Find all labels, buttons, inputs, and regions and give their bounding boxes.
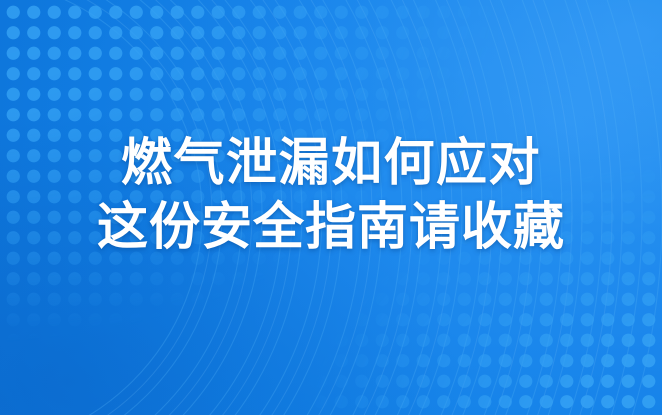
poster-banner: 燃气泄漏如何应对 这份安全指南请收藏 — [0, 0, 662, 415]
headline: 燃气泄漏如何应对 这份安全指南请收藏 — [0, 131, 662, 259]
headline-line-1: 燃气泄漏如何应对 — [0, 131, 662, 195]
headline-line-2: 这份安全指南请收藏 — [0, 195, 662, 259]
